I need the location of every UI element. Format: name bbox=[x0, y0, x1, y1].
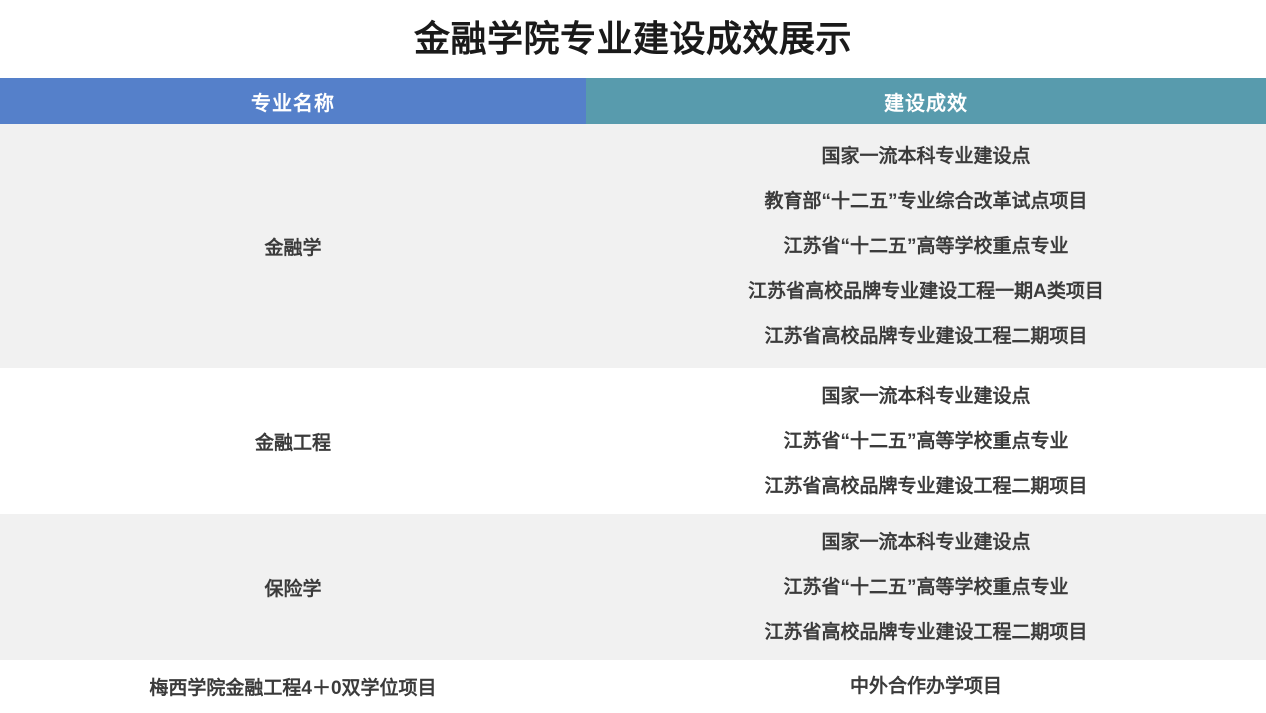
cell-construction-results: 中外合作办学项目 bbox=[586, 660, 1266, 713]
presentation-slide: 金融学院专业建设成效展示 专业名称 建设成效 金融学 国家一流本科专业建设点 教… bbox=[0, 0, 1266, 713]
page-title: 金融学院专业建设成效展示 bbox=[414, 21, 852, 57]
result-item: 国家一流本科专业建设点 bbox=[821, 147, 1030, 166]
result-item: 江苏省高校品牌专业建设工程二期项目 bbox=[764, 623, 1087, 642]
slide-title-bar: 金融学院专业建设成效展示 bbox=[0, 0, 1266, 78]
result-item: 江苏省“十二五”高等学校重点专业 bbox=[783, 237, 1068, 256]
column-header-construction-results: 建设成效 bbox=[586, 78, 1266, 124]
cell-construction-results: 国家一流本科专业建设点 江苏省“十二五”高等学校重点专业 江苏省高校品牌专业建设… bbox=[586, 514, 1266, 660]
cell-construction-results: 国家一流本科专业建设点 江苏省“十二五”高等学校重点专业 江苏省高校品牌专业建设… bbox=[586, 368, 1266, 514]
result-item: 教育部“十二五”专业综合改革试点项目 bbox=[764, 192, 1087, 211]
cell-major-name: 金融学 bbox=[0, 124, 586, 368]
result-item: 江苏省“十二五”高等学校重点专业 bbox=[783, 432, 1068, 451]
table-row: 金融学 国家一流本科专业建设点 教育部“十二五”专业综合改革试点项目 江苏省“十… bbox=[0, 124, 1266, 368]
majors-achievements-table: 专业名称 建设成效 金融学 国家一流本科专业建设点 教育部“十二五”专业综合改革… bbox=[0, 78, 1266, 713]
result-item: 江苏省“十二五”高等学校重点专业 bbox=[783, 578, 1068, 597]
result-item: 中外合作办学项目 bbox=[850, 677, 1002, 696]
result-item: 国家一流本科专业建设点 bbox=[821, 387, 1030, 406]
result-item: 江苏省高校品牌专业建设工程二期项目 bbox=[764, 477, 1087, 496]
result-item: 国家一流本科专业建设点 bbox=[821, 533, 1030, 552]
result-item: 江苏省高校品牌专业建设工程二期项目 bbox=[764, 327, 1087, 346]
table-header-row: 专业名称 建设成效 bbox=[0, 78, 1266, 124]
table-row: 梅西学院金融工程4＋0双学位项目 中外合作办学项目 bbox=[0, 660, 1266, 713]
cell-major-name: 金融工程 bbox=[0, 368, 586, 514]
result-item: 江苏省高校品牌专业建设工程一期A类项目 bbox=[748, 282, 1104, 301]
table-row: 金融工程 国家一流本科专业建设点 江苏省“十二五”高等学校重点专业 江苏省高校品… bbox=[0, 368, 1266, 514]
table-row: 保险学 国家一流本科专业建设点 江苏省“十二五”高等学校重点专业 江苏省高校品牌… bbox=[0, 514, 1266, 660]
cell-construction-results: 国家一流本科专业建设点 教育部“十二五”专业综合改革试点项目 江苏省“十二五”高… bbox=[586, 124, 1266, 368]
cell-major-name: 保险学 bbox=[0, 514, 586, 660]
cell-major-name: 梅西学院金融工程4＋0双学位项目 bbox=[0, 660, 586, 713]
column-header-major-name: 专业名称 bbox=[0, 78, 586, 124]
